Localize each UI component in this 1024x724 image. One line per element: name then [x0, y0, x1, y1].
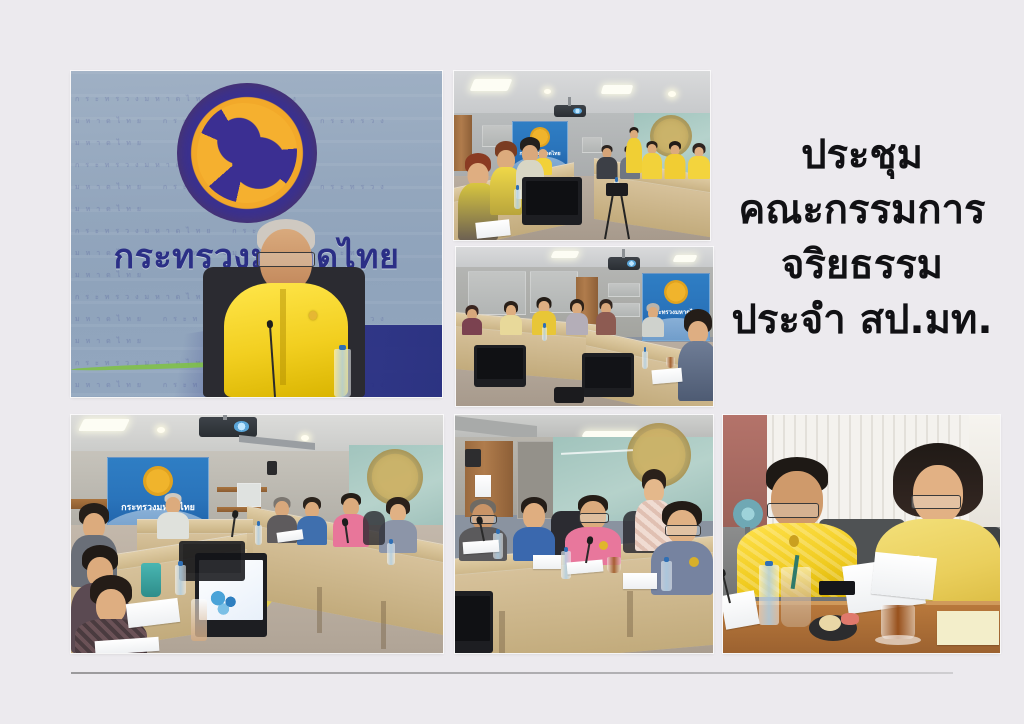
- singha-emblem-icon: [177, 83, 317, 223]
- foreground-body: [678, 341, 713, 401]
- downlight: [301, 435, 309, 441]
- downlight: [157, 427, 165, 433]
- monitor-screen: [477, 348, 523, 378]
- notebook: [819, 581, 855, 595]
- attendee-body: [462, 318, 482, 335]
- man-head: [771, 471, 823, 529]
- attendee-body: [500, 315, 522, 335]
- projector-arm: [568, 97, 571, 106]
- attendee-body: [597, 157, 618, 179]
- tea-glass: [881, 605, 915, 639]
- downlight: [668, 91, 676, 97]
- person-foreground-right: [678, 309, 713, 401]
- table-leg: [381, 601, 386, 649]
- water-bottle: [514, 189, 521, 209]
- ceiling-light: [470, 79, 513, 91]
- shirt-placket: [280, 289, 286, 385]
- wall-notice-paper: [475, 475, 491, 497]
- water-bottle: [255, 525, 262, 545]
- slide-graphic: [209, 591, 244, 615]
- man-badge-icon: [789, 535, 799, 547]
- standing-yellow-shirt: [626, 138, 642, 173]
- room-side-scene: กระทรวงมหาดไทย: [456, 247, 713, 406]
- person-member: [513, 497, 555, 561]
- ceiling-projector: [199, 417, 257, 437]
- photo-room-side: กระทรวงมหาดไทย: [456, 247, 713, 406]
- beverage-cup: [666, 357, 675, 368]
- ceiling-projector: [554, 105, 586, 117]
- room-wide-scene: กระทรวงมหาดไทย: [454, 71, 710, 240]
- monitor-screen: [585, 357, 631, 389]
- title-line-2: คณะกรรมการ: [722, 183, 1002, 238]
- monitor-screen: [526, 181, 579, 216]
- woman-glasses-icon: [911, 495, 961, 509]
- iced-drink-cup: [191, 599, 207, 641]
- photo-room-wide: กระทรวงมหาดไทย: [454, 71, 710, 240]
- document-paper: [651, 368, 682, 385]
- camera-body-icon: [606, 183, 628, 196]
- committee-members-scene: [455, 415, 713, 653]
- title-line-1: ประชุม: [722, 128, 1002, 183]
- camera-tripod: [604, 191, 630, 239]
- person-chairman: [221, 219, 351, 397]
- attendee-yellow-shirt: [664, 154, 685, 179]
- ceiling-light: [550, 251, 579, 258]
- person-attendee: [688, 143, 710, 179]
- attendee-body: [566, 313, 588, 335]
- chairman-glasses-icon: [257, 252, 315, 267]
- equipment-box: [554, 387, 584, 403]
- photo-documents: [723, 415, 1000, 653]
- glass-saucer: [875, 635, 921, 645]
- beverage-cup: [607, 557, 621, 573]
- water-bottle: [661, 561, 672, 591]
- title-line-3: จริยธรรม: [722, 238, 1002, 293]
- chairman-scene: กระทรวงมหาดไทย กระทรวงมหาดไทย กระทรวงมหา…: [71, 71, 442, 397]
- desk-document: [937, 611, 999, 645]
- downlight: [544, 89, 551, 94]
- pastry: [841, 613, 859, 625]
- person-attendee: [462, 305, 482, 335]
- member-glasses-icon: [665, 525, 701, 536]
- desktop-monitor: [179, 541, 245, 581]
- attendee-yellow-shirt: [642, 153, 662, 179]
- person-chair-head: [642, 303, 664, 337]
- member-head: [523, 503, 545, 529]
- document-paper: [463, 540, 500, 554]
- desktop-monitor: [474, 345, 526, 387]
- monitor-screen: [183, 544, 241, 573]
- name-card: [623, 573, 657, 589]
- pastry: [819, 615, 841, 631]
- poster-title: ประชุม คณะกรรมการ จริยธรรม ประจำ สป.มท.: [722, 128, 1002, 348]
- shirt-badge-icon: [309, 311, 317, 320]
- water-bottle: [387, 543, 395, 565]
- person-attendee: [664, 141, 685, 179]
- wall-clock-icon: [267, 461, 277, 475]
- ceiling-light: [78, 419, 130, 431]
- screen-seal-icon: [664, 280, 688, 304]
- attendee-yellow-shirt: [688, 156, 710, 179]
- projector-arm: [622, 249, 625, 258]
- man-glasses-icon: [767, 503, 819, 518]
- person-attendee: [642, 141, 662, 179]
- woman-head: [913, 465, 963, 523]
- water-bottle: [542, 327, 547, 341]
- table-leg: [317, 587, 322, 633]
- water-bottle: [642, 351, 648, 369]
- member-glasses-icon: [470, 515, 497, 524]
- attendee-body: [596, 312, 616, 335]
- room-projector-scene: กระทรวงมหาดไทย: [71, 415, 443, 653]
- poster-canvas: กระทรวงมหาดไทย กระทรวงมหาดไทย กระทรวงมหา…: [0, 0, 1024, 724]
- screen-seal-icon: [143, 466, 173, 496]
- wall-frame: [608, 283, 640, 297]
- tumbler-cup: [141, 563, 161, 597]
- table-leg: [499, 611, 505, 653]
- bottom-divider: [71, 672, 953, 674]
- photo-room-projector: กระทรวงมหาดไทย: [71, 415, 443, 653]
- singha-lion-glyph: [197, 103, 298, 204]
- monitor-screen: [455, 596, 490, 641]
- held-document: [871, 552, 937, 600]
- chairman-yellow-shirt: [224, 283, 348, 397]
- name-card: [533, 555, 561, 569]
- chair-body: [157, 512, 189, 539]
- wall-clock-icon: [465, 449, 481, 467]
- water-bottle: [334, 349, 351, 397]
- chair-back: [363, 511, 385, 545]
- member-glasses-icon: [579, 513, 609, 523]
- documents-scene: [723, 415, 1000, 653]
- chair-body: [642, 317, 664, 337]
- ceiling-light: [672, 255, 697, 262]
- projector-arm: [223, 415, 227, 420]
- wall-frame: [237, 483, 261, 507]
- title-line-4: ประจำ สป.มท.: [722, 293, 1002, 348]
- member-badge-icon: [689, 557, 699, 567]
- person-attendee: [596, 145, 618, 179]
- water-bottle: [175, 565, 186, 595]
- person-chair-head: [157, 493, 189, 539]
- photo-chairman: กระทรวงมหาดไทย กระทรวงมหาดไทย กระทรวงมหา…: [71, 71, 442, 397]
- ceiling-projector: [608, 257, 640, 270]
- person-attendee: [596, 299, 616, 335]
- person-member: [565, 495, 621, 565]
- person-attendee: [566, 299, 588, 335]
- desktop-monitor: [582, 353, 634, 397]
- member-badge-icon: [599, 541, 608, 550]
- desktop-monitor: [522, 177, 582, 225]
- ceiling-light: [601, 85, 634, 94]
- water-bottle: [759, 565, 779, 625]
- table-leg: [627, 591, 633, 637]
- person-attendee: [500, 301, 522, 335]
- desktop-monitor: [455, 591, 493, 653]
- person-standing: [626, 127, 642, 173]
- foreground-head: [96, 589, 126, 623]
- photo-committee-members: [455, 415, 713, 653]
